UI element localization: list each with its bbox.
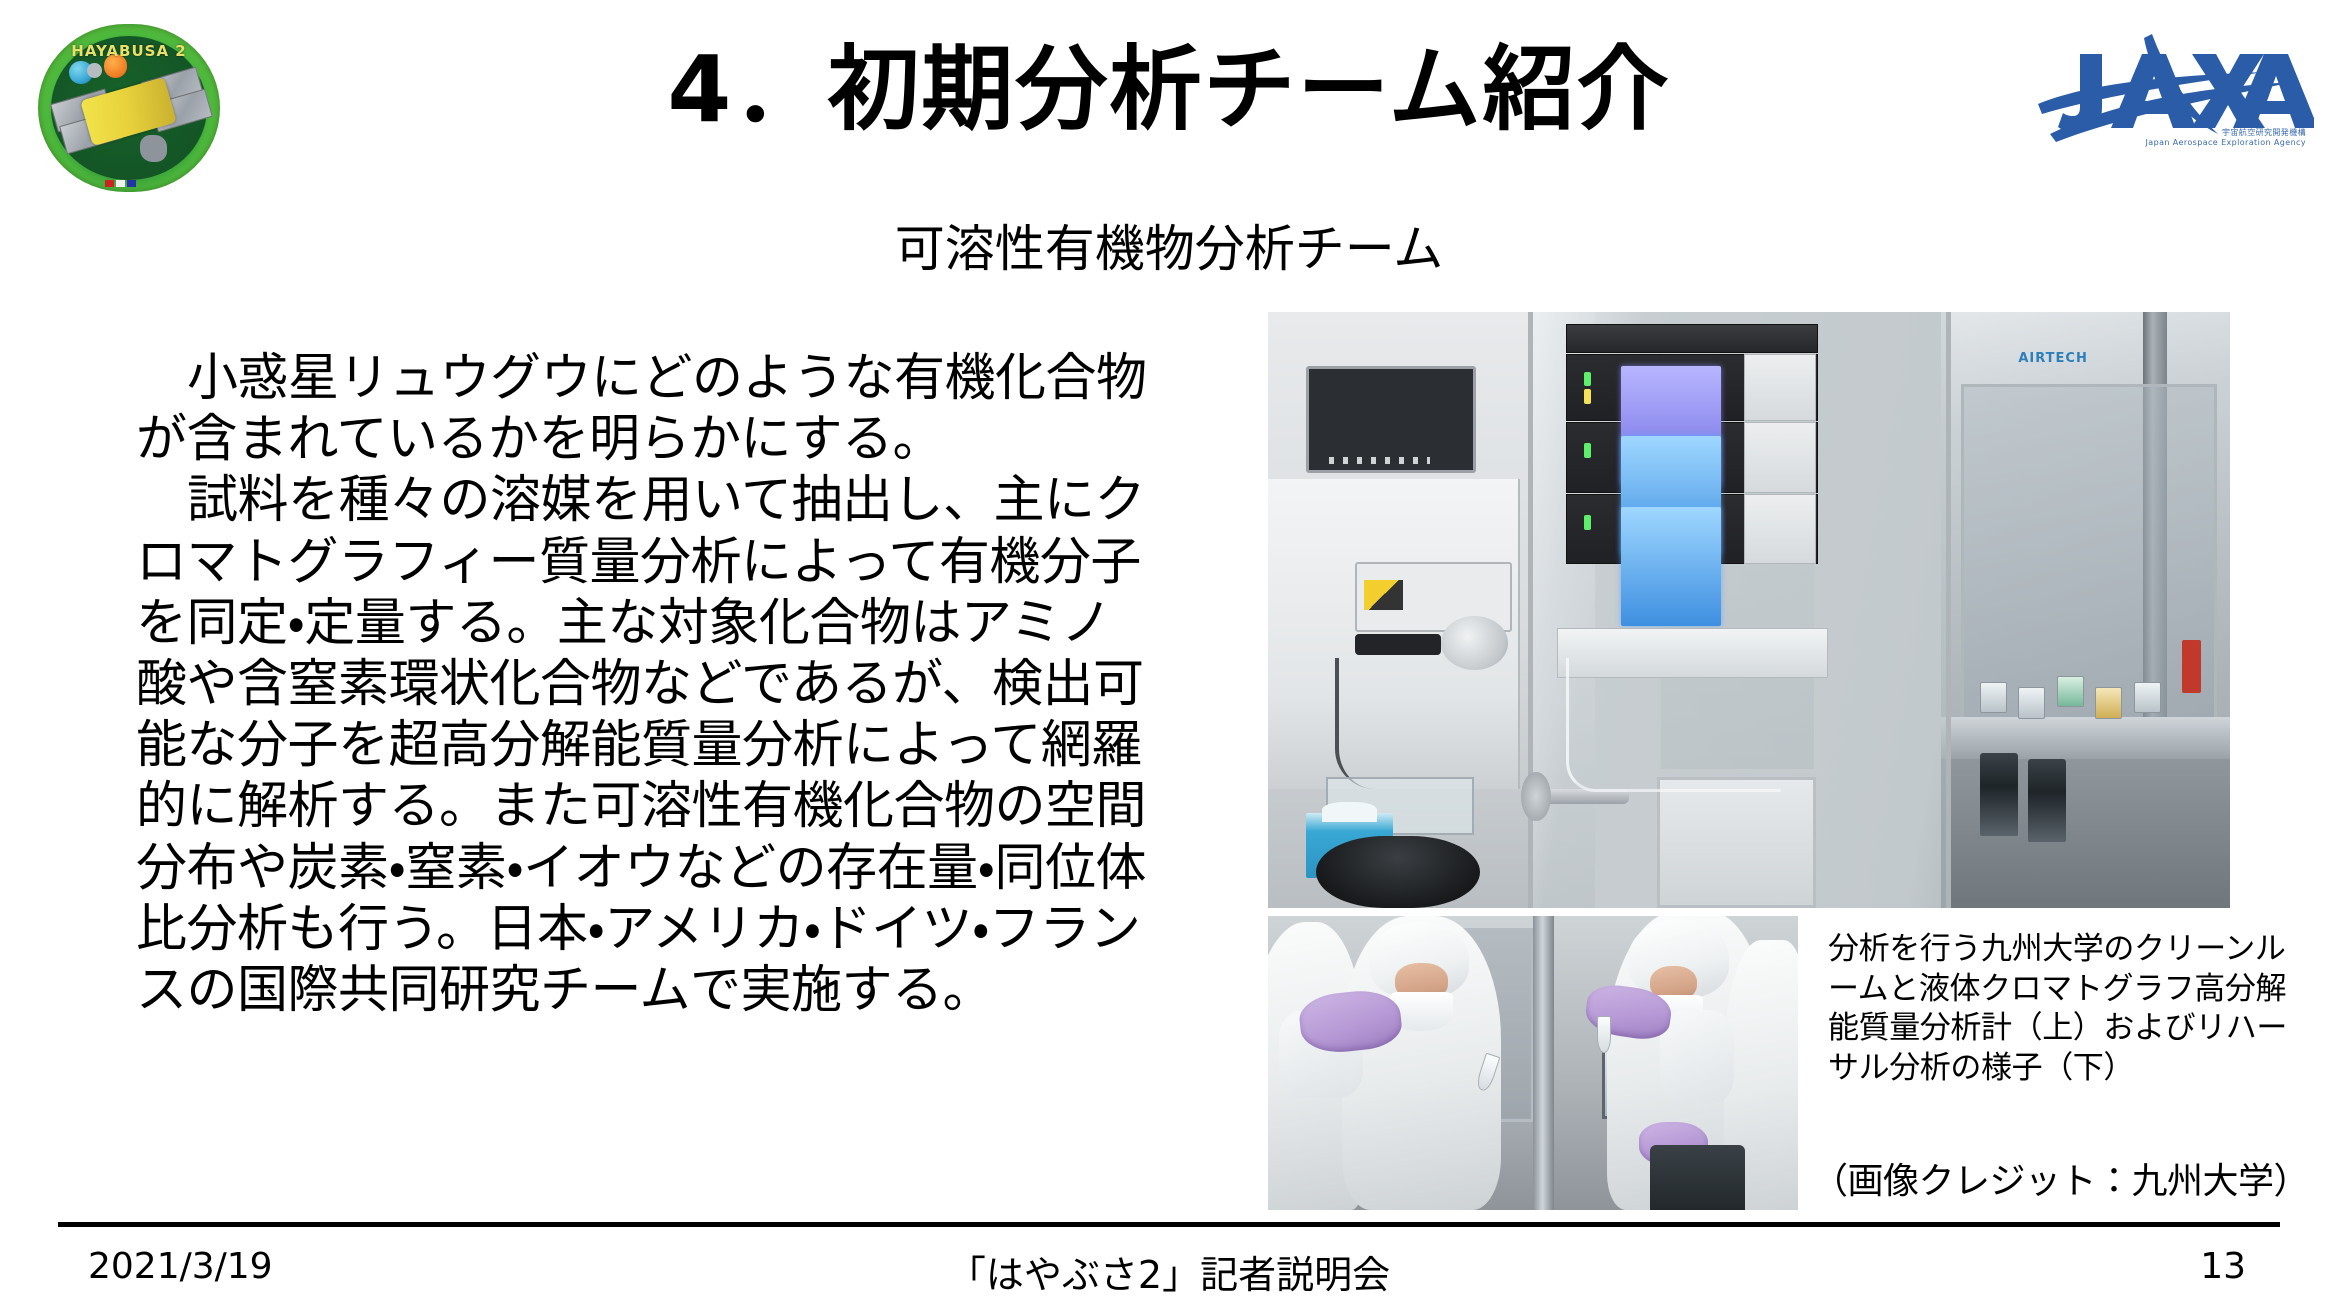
photo-vial <box>2134 682 2161 714</box>
photo-sample-vial <box>1597 1016 1612 1053</box>
footer-event-title: 「はやぶさ2」記者説明会 <box>0 1244 2338 1299</box>
footer: 2021/3/19 「はやぶさ2」記者説明会 13 <box>0 1236 2338 1296</box>
photo-tubing <box>1566 658 1781 792</box>
jaxa-subtext-en: Japan Aerospace Exploration Agency <box>2146 138 2306 148</box>
body-text-block: 小惑星リュウグウにどのような有機化合物が含まれているかを明らかにする。 試料を種… <box>136 348 1156 1021</box>
photo-status-led-icon <box>1584 515 1592 530</box>
rehearsal-analysis-photo <box>1268 916 1798 1210</box>
body-paragraph-1: 小惑星リュウグウにどのような有機化合物が含まれているかを明らかにする。 <box>136 348 1156 470</box>
photo-status-led-icon <box>1584 443 1592 458</box>
photo-vial <box>2095 687 2122 719</box>
photo-status-led-icon <box>1584 372 1592 387</box>
photo-solvent-bottle <box>1980 753 2018 836</box>
footer-page-number: 13 <box>2200 1246 2246 1287</box>
photo-lcms-side-panel <box>1744 422 1816 493</box>
photo-status-led-icon <box>1584 389 1592 404</box>
photo-cable <box>1335 658 1464 789</box>
photo-lcms-side-panel <box>1744 494 1816 565</box>
photo-monitor <box>1306 366 1476 473</box>
photo-vial <box>2018 687 2045 719</box>
footer-divider <box>58 1222 2280 1227</box>
photo-caption: 分析を行う九州大学のクリーンルームと液体クロマトグラフ高分解能質量分析計（上）お… <box>1828 930 2298 1089</box>
photo-lcms-side-panel <box>1744 354 1816 422</box>
cleanroom-lcms-photo: AIRTECH <box>1268 312 2230 908</box>
slide-title: 4．初期分析チーム紹介 <box>0 42 2338 139</box>
photo-lcms-instrument-stack <box>1566 324 1816 622</box>
photo-vial <box>2057 676 2084 708</box>
photo-solvent-bottle <box>2028 759 2066 842</box>
slide-subtitle: 可溶性有機物分析チーム <box>0 222 2338 277</box>
photo-bench-glass <box>1961 384 2217 724</box>
photo-probe-rod <box>1355 634 1442 655</box>
photo-door-frame <box>1533 916 1554 1210</box>
photo-airtech-brand-text: AIRTECH <box>2018 351 2088 366</box>
photo-lcms-display <box>1621 507 1721 626</box>
photo-warning-label-icon <box>1364 580 1402 610</box>
photo-lcms-top-module <box>1566 324 1818 353</box>
patch-asteroid-icon <box>140 135 167 162</box>
patch-flags-icon <box>105 180 136 187</box>
body-paragraph-2: 試料を種々の溶媒を用いて抽出し、主にクロマトグラフィー質量分析によって有機分子を… <box>136 470 1156 1021</box>
photo-dark-equipment <box>1650 1145 1745 1210</box>
photo-stool <box>1316 836 1480 908</box>
photo-vial <box>1980 682 2007 714</box>
image-credit: （画像クレジット：九州大学） <box>1812 1152 2312 1204</box>
photo-door-panel <box>1657 777 1816 908</box>
photo-red-marker <box>2182 640 2201 694</box>
photo-suit-arm <box>1660 1010 1734 1104</box>
